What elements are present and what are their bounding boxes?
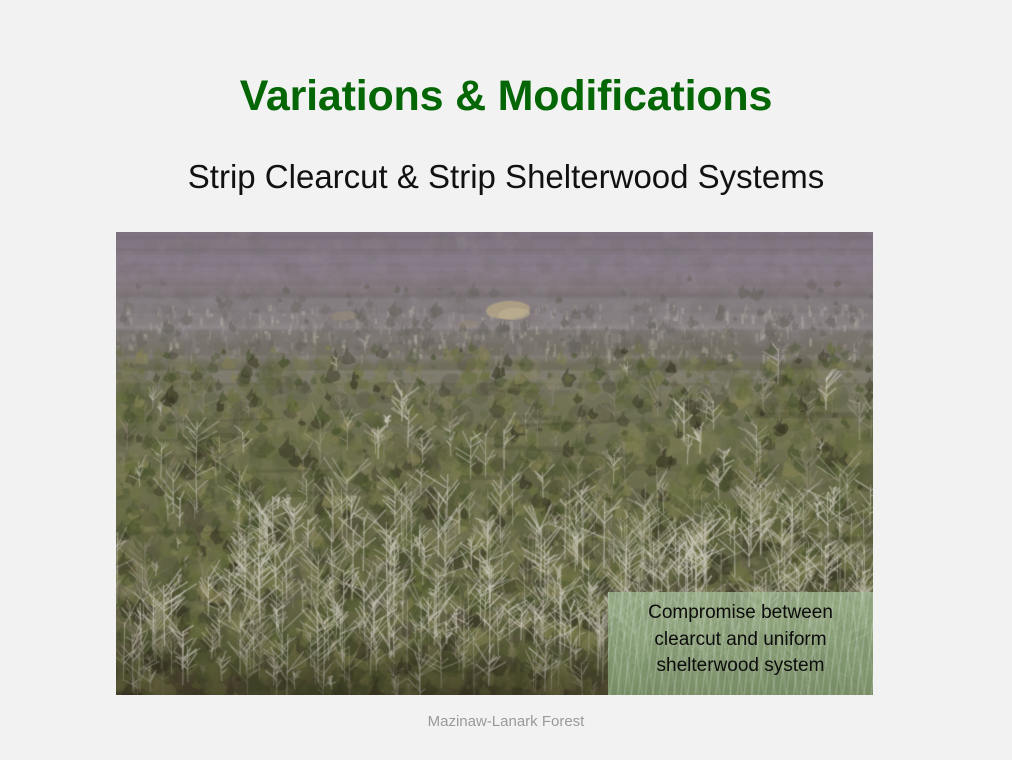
- photo-caption-line-2: clearcut and uniform: [618, 627, 863, 654]
- page-subtitle: Strip Clearcut & Strip Shelterwood Syste…: [0, 159, 1012, 195]
- forest-photo: Compromise between clearcut and uniform …: [116, 232, 873, 695]
- slide-canvas: Variations & Modifications Strip Clearcu…: [0, 0, 1012, 760]
- photo-caption-line-3: shelterwood system: [618, 653, 863, 680]
- photo-credit: Mazinaw-Lanark Forest: [0, 713, 1012, 730]
- photo-caption-line-1: Compromise between: [618, 600, 863, 627]
- photo-caption-box: Compromise between clearcut and uniform …: [608, 592, 873, 695]
- page-title: Variations & Modifications: [0, 74, 1012, 119]
